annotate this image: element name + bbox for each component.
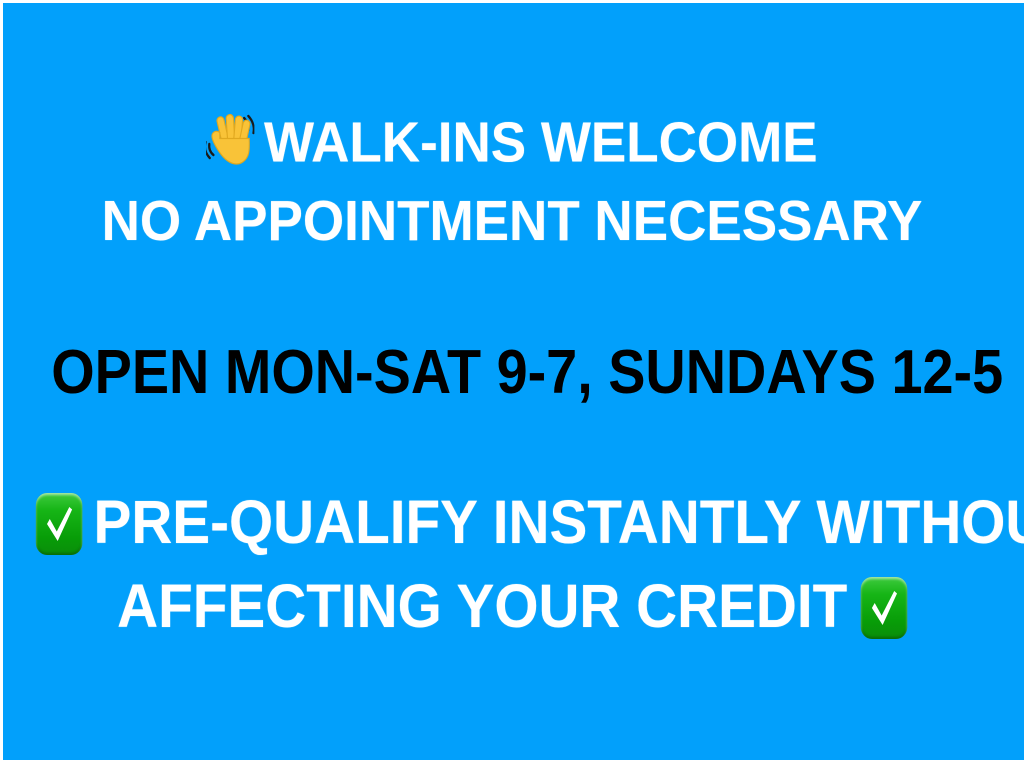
prequalify-block: PRE-QUALIFY INSTANTLY WITHOUT AFFECTING … bbox=[0, 492, 1024, 639]
prequalify-line-1: PRE-QUALIFY INSTANTLY WITHOUT bbox=[36, 492, 988, 555]
white-check-mark-icon bbox=[36, 493, 83, 555]
promo-poster: WALK-INS WELCOME NO APPOINTMENT NECESSAR… bbox=[0, 0, 1024, 768]
prequalify-line-2-text: AFFECTING YOUR CREDIT bbox=[117, 572, 847, 640]
check-glyph bbox=[36, 493, 83, 555]
hours-block: OPEN MON-SAT 9-7, SUNDAYS 12-5 bbox=[0, 342, 1024, 404]
poster-content: WALK-INS WELCOME NO APPOINTMENT NECESSAR… bbox=[0, 0, 1024, 768]
check-glyph bbox=[860, 577, 907, 639]
headline-no-appointment-text: NO APPOINTMENT NECESSARY bbox=[102, 189, 923, 253]
hours-line-text: OPEN MON-SAT 9-7, SUNDAYS 12-5 bbox=[51, 338, 1003, 407]
waving-hand-icon bbox=[206, 112, 254, 168]
white-check-mark-icon bbox=[860, 577, 907, 639]
headline-walk-ins-text: WALK-INS WELCOME bbox=[264, 111, 818, 175]
prequalify-line-1-text: PRE-QUALIFY INSTANTLY WITHOUT bbox=[94, 488, 1024, 556]
headline-no-appointment: NO APPOINTMENT NECESSARY bbox=[36, 193, 988, 250]
prequalify-line-2: AFFECTING YOUR CREDIT bbox=[36, 576, 988, 639]
hours-line: OPEN MON-SAT 9-7, SUNDAYS 12-5 bbox=[51, 342, 973, 404]
headline-walk-ins: WALK-INS WELCOME bbox=[36, 112, 988, 172]
welcome-block: WALK-INS WELCOME NO APPOINTMENT NECESSAR… bbox=[0, 112, 1024, 250]
